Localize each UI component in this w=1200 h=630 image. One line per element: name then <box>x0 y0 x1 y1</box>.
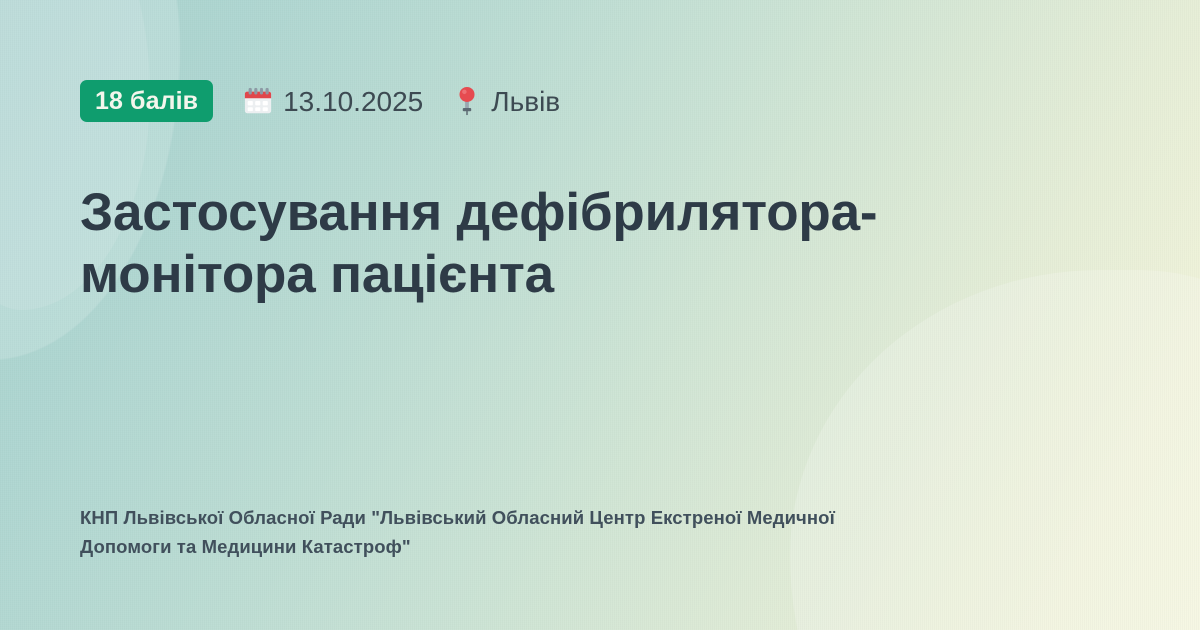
event-meta-row: 18 балів <box>80 80 560 122</box>
organizer-name: КНП Львівської Обласної Ради "Львівський… <box>80 503 910 561</box>
event-date: 13.10.2025 <box>243 85 423 117</box>
event-banner-card: 18 балів <box>0 0 1200 630</box>
event-date-text: 13.10.2025 <box>283 86 423 118</box>
event-location-text: Львів <box>491 86 560 118</box>
calendar-icon <box>243 86 273 116</box>
banner-content: 18 балів <box>0 0 1200 630</box>
event-location: Львів <box>453 85 560 117</box>
score-badge: 18 балів <box>80 80 213 122</box>
page-title: Застосування дефібрилятора-монітора паці… <box>80 182 980 306</box>
round-pushpin-icon <box>453 86 481 116</box>
